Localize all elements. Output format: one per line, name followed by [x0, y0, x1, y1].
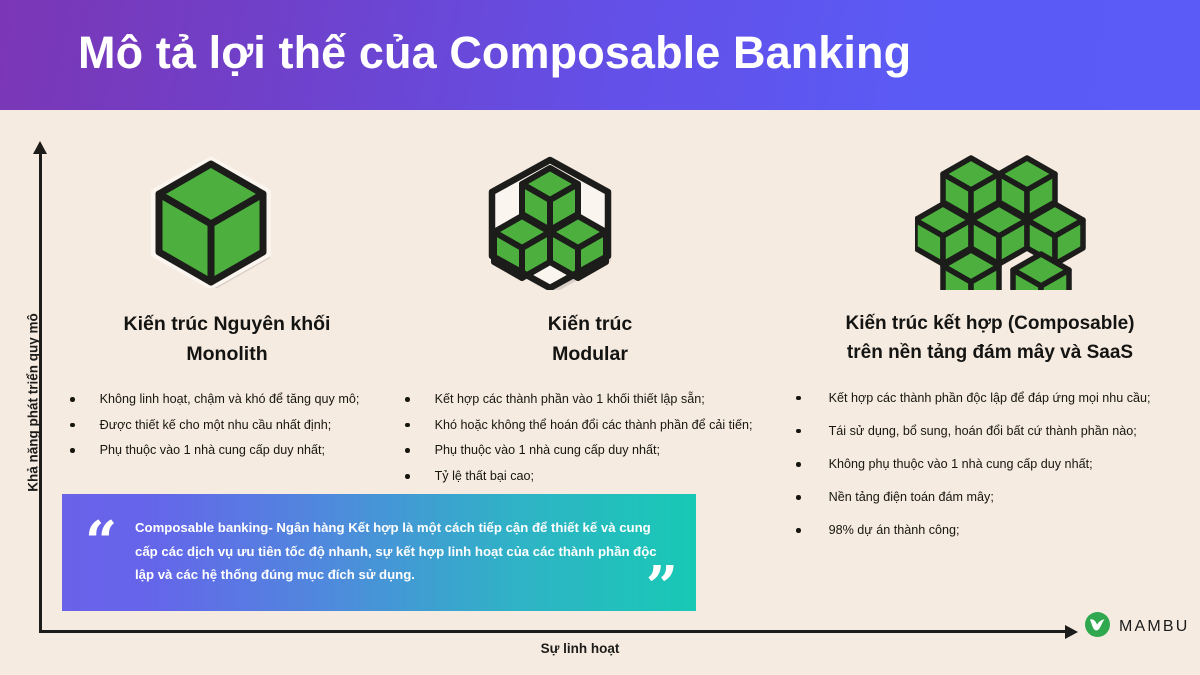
list-item-text: Không linh hoạt, chậm và khó để tăng quy… — [100, 391, 360, 407]
list-item-text: Phụ thuộc vào 1 nhà cung cấp duy nhất; — [100, 442, 325, 458]
quote-close-mark-icon: ” — [646, 559, 676, 615]
mambu-logo: MAMBU — [1085, 612, 1190, 642]
list-item-text: Kết hợp các thành phần vào 1 khối thiết … — [435, 391, 705, 407]
list-item: Không linh hoạt, chậm và khó để tăng quy… — [62, 391, 392, 407]
bullet-dot-icon — [796, 396, 801, 401]
list-item-text: Tái sử dụng, bổ sung, hoán đổi bất cứ th… — [829, 423, 1137, 439]
column-modular: Kiến trúc Modular Kết hợp các thành phần… — [400, 150, 780, 494]
single-cube-icon — [62, 150, 392, 290]
bullet-dot-icon — [405, 474, 410, 479]
page-title: Mô tả lợi thế của Composable Banking — [78, 27, 911, 79]
bullet-dot-icon — [70, 448, 75, 453]
bullet-dot-icon — [405, 423, 410, 428]
column-title-line1: Kiến trúc — [400, 310, 780, 340]
mambu-mark-icon — [1085, 612, 1110, 642]
list-item: Không phụ thuộc vào 1 nhà cung cấp duy n… — [790, 456, 1190, 472]
x-axis-arrow-icon — [1065, 625, 1078, 639]
y-axis-arrow-icon — [33, 141, 47, 154]
column-composable: Kiến trúc kết hợp (Composable) trên nền … — [790, 150, 1190, 555]
list-item: Phụ thuộc vào 1 nhà cung cấp duy nhất; — [400, 442, 780, 458]
bullet-dot-icon — [405, 397, 410, 402]
hexagon-three-cubes-icon — [400, 150, 780, 290]
column-title-modular: Kiến trúc Modular — [400, 310, 780, 369]
column-title-line1: Kiến trúc kết hợp (Composable) — [790, 310, 1190, 339]
cube-cluster-icon — [790, 150, 1190, 290]
list-item-text: 98% dự án thành công; — [829, 522, 960, 538]
quote-open-mark-icon: “ — [85, 514, 115, 570]
list-item-text: Khó hoặc không thể hoán đổi các thành ph… — [435, 417, 753, 433]
list-item-text: Được thiết kế cho một nhu cầu nhất định; — [100, 417, 332, 433]
list-item-text: Nền tảng điện toán đám mây; — [829, 489, 994, 505]
list-item: Phụ thuộc vào 1 nhà cung cấp duy nhất; — [62, 442, 392, 458]
column-title-line2: Monolith — [62, 340, 392, 370]
column-title-line1: Kiến trúc Nguyên khối — [62, 310, 392, 340]
column-title-line2: Modular — [400, 340, 780, 370]
list-item-text: Phụ thuộc vào 1 nhà cung cấp duy nhất; — [435, 442, 660, 458]
x-axis-label: Sự linh hoạt — [480, 641, 680, 656]
x-axis-line — [39, 630, 1069, 633]
page-header-banner: Mô tả lợi thế của Composable Banking — [0, 0, 1200, 110]
bullet-list-composable: Kết hợp các thành phần độc lập để đáp ứn… — [790, 390, 1190, 539]
quote-text: Composable banking- Ngân hàng Kết hợp là… — [135, 516, 670, 587]
list-item: Tái sử dụng, bổ sung, hoán đổi bất cứ th… — [790, 423, 1190, 439]
bullet-dot-icon — [796, 462, 801, 467]
column-title-monolith: Kiến trúc Nguyên khối Monolith — [62, 310, 392, 369]
mambu-logo-text: MAMBU — [1119, 618, 1190, 636]
list-item-text: Không phụ thuộc vào 1 nhà cung cấp duy n… — [829, 456, 1093, 472]
list-item: Khó hoặc không thể hoán đổi các thành ph… — [400, 417, 780, 433]
list-item: Kết hợp các thành phần vào 1 khối thiết … — [400, 391, 780, 407]
list-item: Kết hợp các thành phần độc lập để đáp ứn… — [790, 390, 1190, 406]
list-item: Được thiết kế cho một nhu cầu nhất định; — [62, 417, 392, 433]
bullet-dot-icon — [70, 423, 75, 428]
bullet-list-modular: Kết hợp các thành phần vào 1 khối thiết … — [400, 391, 780, 484]
column-title-line2: trên nền tảng đám mây và SaaS — [790, 339, 1190, 368]
column-title-composable: Kiến trúc kết hợp (Composable) trên nền … — [790, 310, 1190, 368]
bullet-dot-icon — [796, 429, 801, 434]
bullet-dot-icon — [796, 528, 801, 533]
column-monolith: Kiến trúc Nguyên khối Monolith Không lin… — [62, 150, 392, 468]
quote-callout-box: “ Composable banking- Ngân hàng Kết hợp … — [62, 494, 696, 611]
bullet-dot-icon — [405, 448, 410, 453]
list-item: 98% dự án thành công; — [790, 522, 1190, 538]
list-item: Tỷ lệ thất bại cao; — [400, 468, 780, 484]
list-item-text: Tỷ lệ thất bại cao; — [435, 468, 534, 484]
bullet-dot-icon — [70, 397, 75, 402]
y-axis-label: Khả năng phát triển quy mô — [26, 308, 41, 498]
list-item: Nền tảng điện toán đám mây; — [790, 489, 1190, 505]
bullet-list-monolith: Không linh hoạt, chậm và khó để tăng quy… — [62, 391, 392, 458]
list-item-text: Kết hợp các thành phần độc lập để đáp ứn… — [829, 390, 1151, 406]
bullet-dot-icon — [796, 495, 801, 500]
